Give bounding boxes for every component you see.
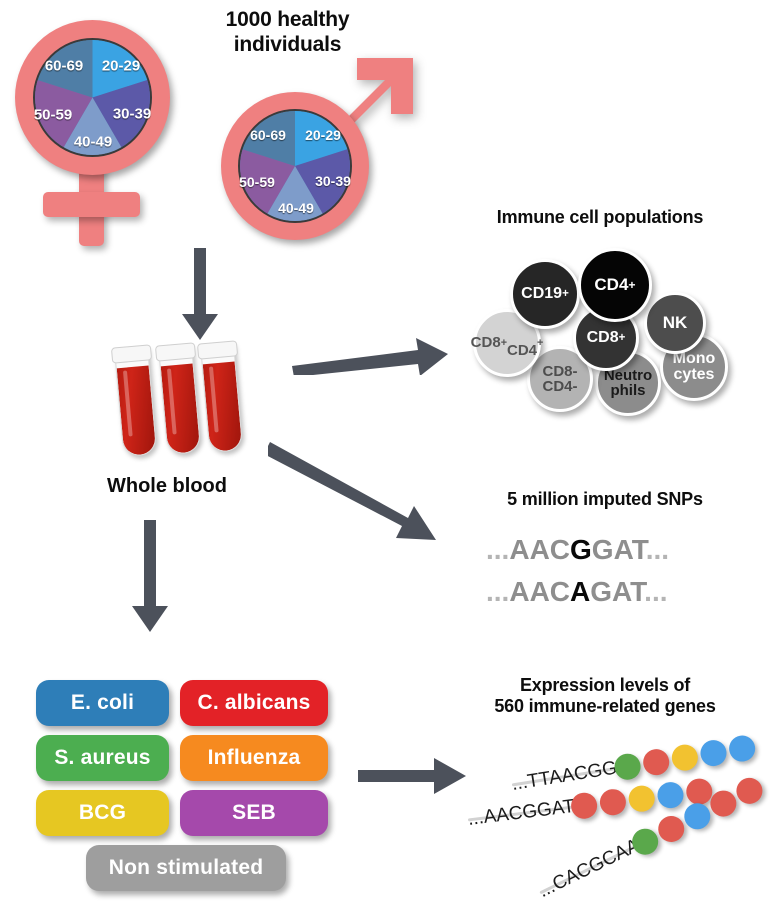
gene-bead: [670, 743, 700, 773]
gene-bead: [656, 781, 685, 810]
gene-bead: [732, 773, 767, 808]
strand-sequence-label: ...AACGGAT: [467, 796, 576, 831]
gene-bead: [627, 784, 656, 813]
strand-sequence-label: ...CACGCAA: [535, 835, 643, 903]
diagram-canvas: 1000 healthy individuals Immune cell pop…: [0, 0, 771, 922]
expression-strand-cluster: ...TTAACGG ...AACGGAT ...CACGCAA: [0, 0, 771, 922]
gene-bead: [598, 788, 627, 817]
gene-bead: [641, 747, 671, 777]
gene-bead: [699, 738, 729, 768]
gene-bead: [727, 734, 757, 764]
